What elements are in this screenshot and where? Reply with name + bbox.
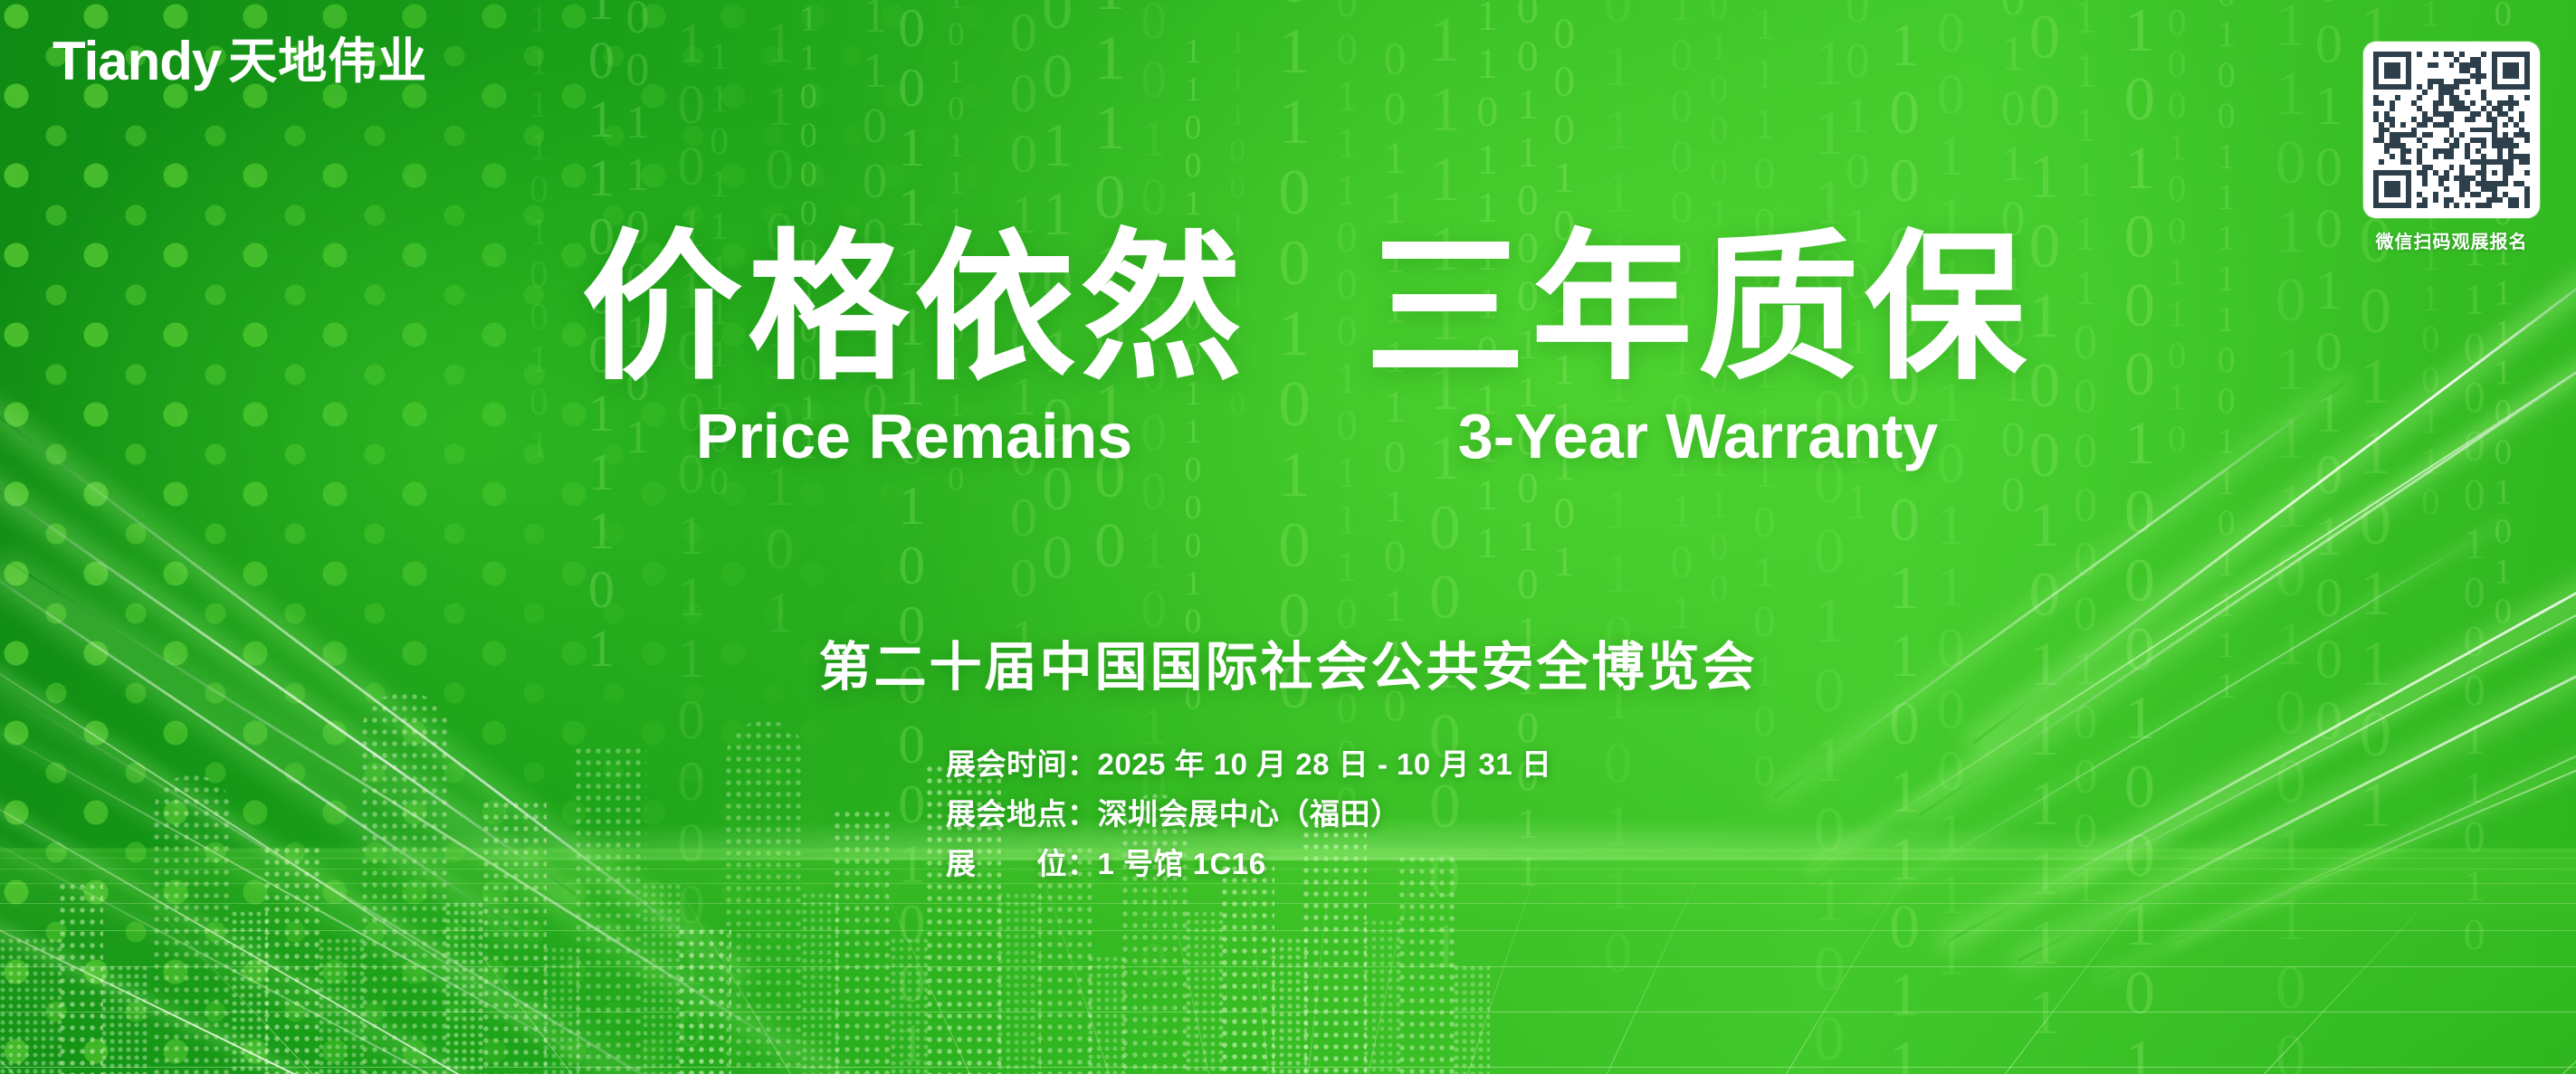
qr-registration-block[interactable]: 微信扫码观展报名 [2363,42,2540,253]
headline-right: 三年质保 3-Year Warranty [1365,226,2031,471]
promo-banner: 1111010010101011000111010001100101100110… [0,0,2576,1074]
headline-right-cn: 三年质保 [1365,226,2031,391]
logo-en-text: Tiandy [52,34,221,89]
headline-left: 价格依然 Price Remains [581,226,1247,471]
expo-details: 展会时间：2025 年 10 月 28 日 - 10 月 31 日 展会地点：深… [946,740,1551,889]
headline-group: 价格依然 Price Remains 三年质保 3-Year Warranty [0,226,2576,471]
logo-cn-text: 天地伟业 [228,37,427,86]
tiandy-logo: Tiandy 天地伟业 [52,34,427,89]
qr-code-icon[interactable] [2363,42,2540,218]
expo-venue-row: 展会地点：深圳会展中心（福田） [946,790,1551,840]
headline-left-en: Price Remains [581,402,1247,471]
expo-booth-row: 展 位：1 号馆 1C16 [946,840,1551,889]
headline-left-cn: 价格依然 [581,226,1247,391]
expo-date-row: 展会时间：2025 年 10 月 28 日 - 10 月 31 日 [946,740,1551,790]
expo-title: 第二十届中国国际社会公共安全博览会 [0,624,2576,700]
headline-right-en: 3-Year Warranty [1365,402,2031,471]
